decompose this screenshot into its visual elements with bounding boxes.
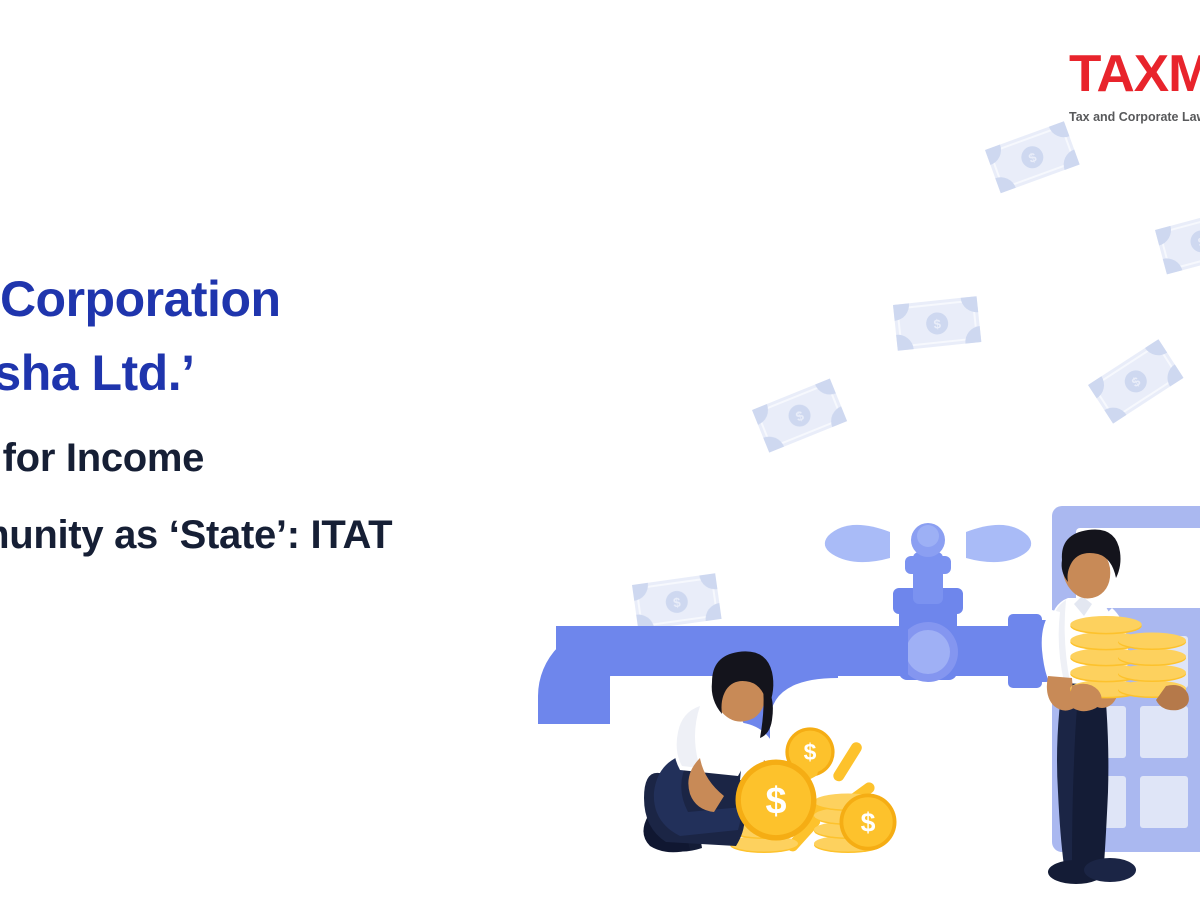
calculator-graphic	[1052, 506, 1200, 852]
coin-stack-left	[730, 808, 798, 854]
logo-tagline: Tax and Corporate Laws	[1069, 110, 1200, 124]
standing-person-graphic	[1042, 529, 1189, 884]
logo-wordmark: TAXMANN	[1069, 48, 1200, 100]
poster-canvas: $ $	[0, 0, 1200, 900]
taxmann-logo[interactable]: TAXMANN Tax and Corporate Laws	[1069, 48, 1200, 124]
held-coin-stack	[1070, 616, 1186, 698]
headline-block: Water Corporation of Odisha Ltd.’ Eligib…	[0, 262, 672, 574]
headline-spacer	[0, 410, 672, 420]
headline-line-3: Eligible for Income	[0, 420, 672, 497]
coin-stack-right	[814, 794, 882, 854]
svg-text:$: $	[736, 767, 747, 789]
headline-line-4: Tax immunity as ‘State’: ITAT	[0, 497, 672, 574]
headline-line-2: of Odisha Ltd.’	[0, 336, 672, 410]
coin-stacks	[730, 740, 897, 854]
kneeling-person-graphic	[643, 651, 816, 852]
falling-coins: $	[714, 727, 835, 800]
headline-line-1: Water Corporation	[0, 262, 672, 336]
floating-banknotes	[632, 121, 1200, 630]
